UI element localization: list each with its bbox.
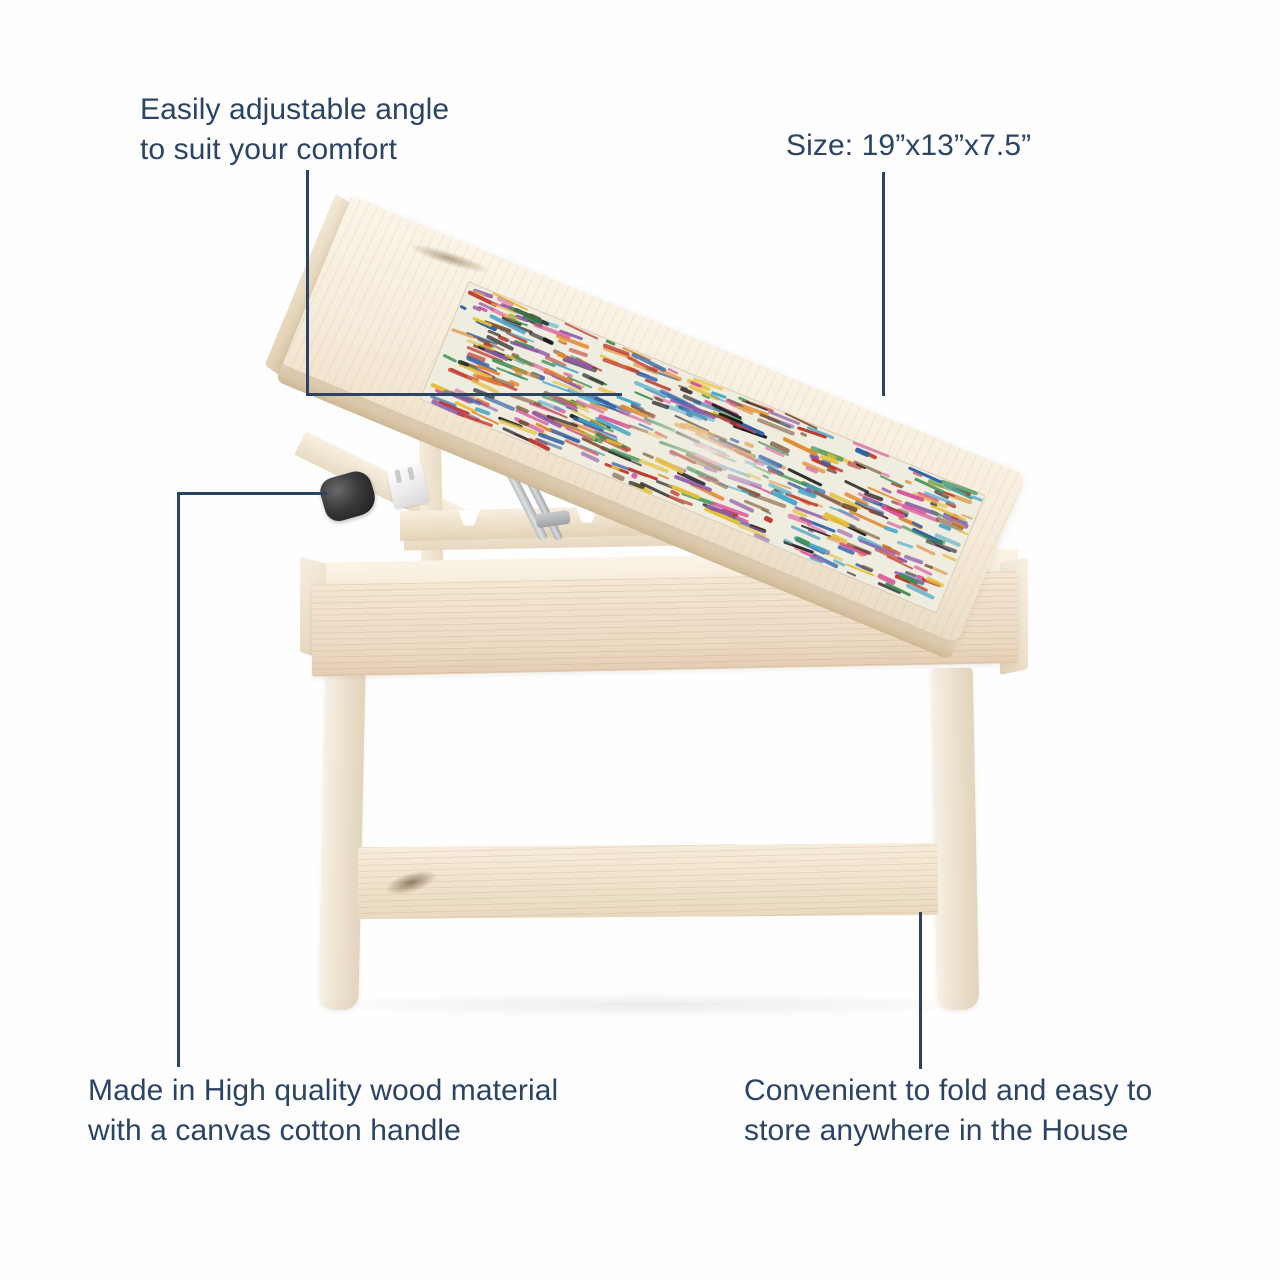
leader-line-material-vertical <box>177 492 180 1067</box>
art-dash <box>460 305 467 310</box>
callout-adjustable-angle: Easily adjustable angle to suit your com… <box>140 90 449 169</box>
art-dash <box>924 564 933 569</box>
art-dash <box>442 353 457 362</box>
leader-line-material-horizontal <box>177 492 327 495</box>
leader-line-adjustable-angle-horizontal <box>306 393 622 396</box>
art-dash <box>763 515 773 523</box>
wood-knot <box>382 865 439 899</box>
art-dash <box>657 473 669 480</box>
art-dash <box>800 432 808 438</box>
art-dash <box>846 571 856 577</box>
callout-material: Made in High quality wood material with … <box>88 1071 558 1150</box>
leader-line-fold <box>919 912 922 1069</box>
lower-stretcher <box>358 843 938 919</box>
art-dash <box>958 530 969 536</box>
right-leg <box>931 668 980 1011</box>
art-dash <box>905 479 913 484</box>
art-dash <box>897 540 914 548</box>
infographic-canvas: Easily adjustable angle to suit your com… <box>0 0 1280 1280</box>
callout-fold-and-store: Convenient to fold and easy to store any… <box>744 1071 1152 1150</box>
floor-shadow <box>300 992 1000 1018</box>
left-leg <box>318 666 365 1011</box>
callout-size: Size: 19”x13”x7.5” <box>786 126 1031 166</box>
leader-line-size <box>882 172 885 396</box>
art-dash <box>942 553 957 561</box>
leader-line-adjustable-angle-vertical <box>306 170 309 396</box>
